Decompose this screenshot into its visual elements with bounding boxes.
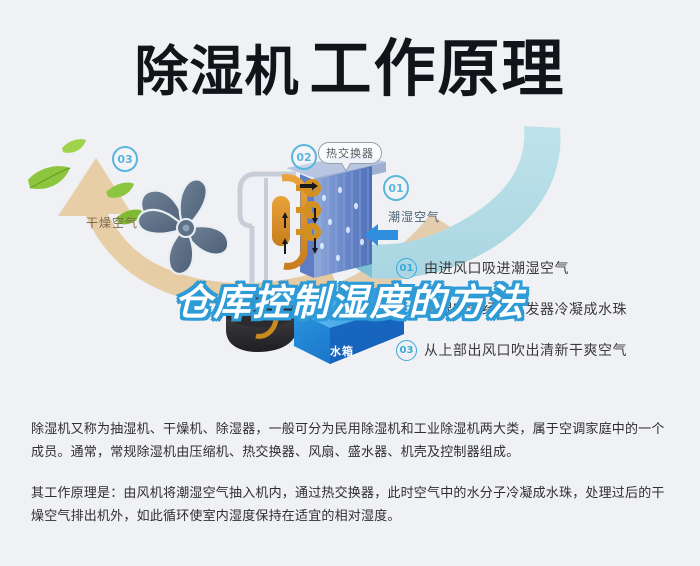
title-primary: 除湿机 [134, 40, 299, 103]
humid-air-label: 潮湿空气 [388, 208, 440, 225]
title-secondary: 工作原理 [309, 32, 565, 105]
heat-exchanger-callout: 热交换器 [318, 142, 382, 164]
fan-icon [138, 179, 228, 274]
legend-badge: 03 [396, 340, 417, 361]
page-title: 除湿机工作原理 [0, 18, 700, 108]
page-root: 除湿机工作原理 [0, 0, 700, 566]
dry-air-label: 干燥空气 [86, 214, 138, 231]
paragraph-1: 除湿机又称为抽湿机、干燥机、除湿器，一般可分为民用除湿机和工业除湿机两大类，属于… [31, 418, 669, 464]
overlay-headline: 仓库控制湿度的方法 [0, 272, 700, 326]
badge-humid-air: 01 [383, 175, 409, 201]
water-tank-label: 水箱 [330, 343, 354, 359]
leaf-icon [28, 166, 70, 189]
badge-heat-exchanger: 02 [291, 144, 317, 170]
leaf-icon [62, 139, 86, 153]
article-body: 除湿机又称为抽湿机、干燥机、除湿器，一般可分为民用除湿机和工业除湿机两大类，属于… [31, 418, 669, 546]
badge-dry-air: 03 [112, 146, 138, 172]
paragraph-2: 其工作原理是：由风机将潮湿空气抽入机内，通过热交换器，此时空气中的水分子冷凝成水… [31, 482, 669, 528]
legend-label: 从上部出风口吹出清新干爽空气 [424, 340, 627, 360]
list-item: 03 从上部出风口吹出清新干爽空气 [396, 340, 696, 360]
